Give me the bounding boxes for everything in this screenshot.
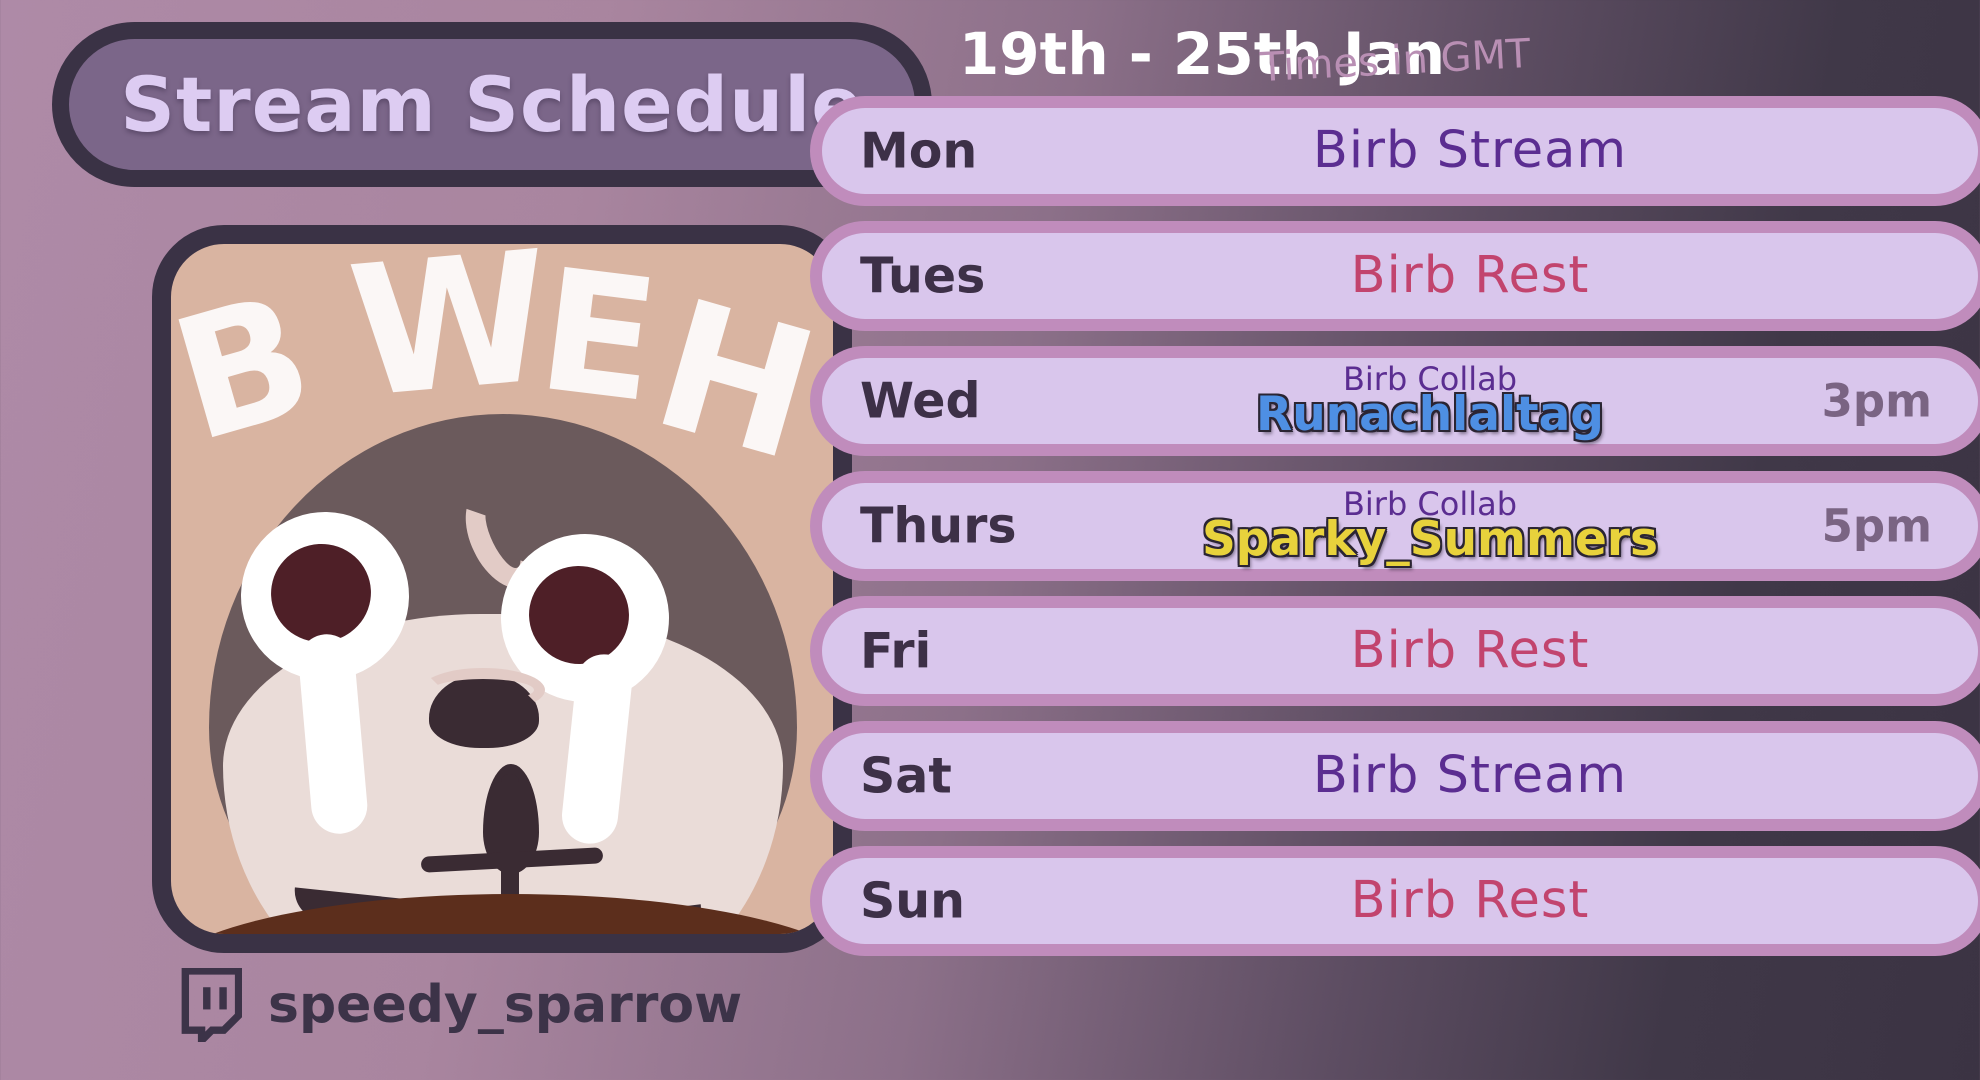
activity-block: Birb Rest (1022, 624, 1918, 678)
schedule-row-inner: ThursBirb CollabSparky_Summers5pm (822, 483, 1978, 569)
activity-label: Birb Rest (1022, 249, 1918, 303)
avatar-illustration: B W E H Template from Loumon (171, 244, 833, 934)
activity-block: Birb Rest (1022, 874, 1918, 928)
time-label: 5pm (1822, 500, 1932, 553)
activity-block: Birb Rest (1022, 249, 1918, 303)
activity-block: Birb CollabSparky_Summers (1022, 488, 1838, 564)
bweh-letter-e: E (531, 246, 665, 427)
bweh-letter-b: B (158, 270, 327, 467)
schedule-row[interactable]: SunBirb Rest (810, 846, 1980, 956)
schedule-row-inner: MonBirb Stream (822, 108, 1978, 194)
collab-guest-name[interactable]: Sparky_Summers (1022, 516, 1838, 564)
schedule-row[interactable]: ThursBirb CollabSparky_Summers5pm (810, 471, 1980, 581)
right-column: 19th - 25th Jan Times in GMT MonBirb Str… (960, 0, 1980, 1080)
bweh-letter-h: H (639, 275, 831, 487)
day-label: Wed (860, 373, 981, 430)
activity-label: Birb Rest (1022, 624, 1918, 678)
schedule-row[interactable]: MonBirb Stream (810, 96, 1980, 206)
schedule-row[interactable]: WedBirb CollabRunachlaltag3pm (810, 346, 1980, 456)
avatar-card: B W E H Template from Loumon (152, 225, 852, 953)
beak-highlight (421, 668, 545, 712)
activity-label: Birb Stream (1022, 124, 1918, 178)
creature-chest: Template from Loumon (152, 894, 852, 953)
activity-label: Birb Stream (1022, 749, 1918, 803)
twitch-icon (176, 968, 242, 1042)
schedule-row-inner: SunBirb Rest (822, 858, 1978, 944)
schedule-row-inner: TuesBirb Rest (822, 233, 1978, 319)
schedule-row[interactable]: FriBirb Rest (810, 596, 1980, 706)
activity-block: Birb Stream (1022, 124, 1918, 178)
page-title: Stream Schedule (120, 60, 864, 149)
schedule-row-inner: WedBirb CollabRunachlaltag3pm (822, 358, 1978, 444)
day-label: Tues (860, 248, 985, 305)
activity-block: Birb CollabRunachlaltag (1022, 363, 1838, 439)
day-label: Sat (860, 748, 952, 805)
day-label: Sun (860, 873, 965, 930)
schedule-list: MonBirb StreamTuesBirb RestWedBirb Colla… (810, 96, 1980, 971)
schedule-header: 19th - 25th Jan Times in GMT (960, 14, 1980, 92)
title-badge: Stream Schedule (52, 22, 932, 187)
activity-block: Birb Stream (1022, 749, 1918, 803)
schedule-row[interactable]: TuesBirb Rest (810, 221, 1980, 331)
day-label: Thurs (860, 498, 1017, 555)
day-label: Fri (860, 623, 931, 680)
collab-guest-name[interactable]: Runachlaltag (1022, 391, 1838, 439)
schedule-row[interactable]: SatBirb Stream (810, 721, 1980, 831)
activity-label: Birb Rest (1022, 874, 1918, 928)
day-label: Mon (860, 123, 977, 180)
schedule-row-inner: FriBirb Rest (822, 608, 1978, 694)
bweh-letter-w: W (344, 228, 557, 425)
twitch-handle[interactable]: speedy_sparrow (176, 968, 742, 1042)
twitch-username: speedy_sparrow (268, 975, 742, 1035)
time-label: 3pm (1822, 375, 1932, 428)
schedule-row-inner: SatBirb Stream (822, 733, 1978, 819)
